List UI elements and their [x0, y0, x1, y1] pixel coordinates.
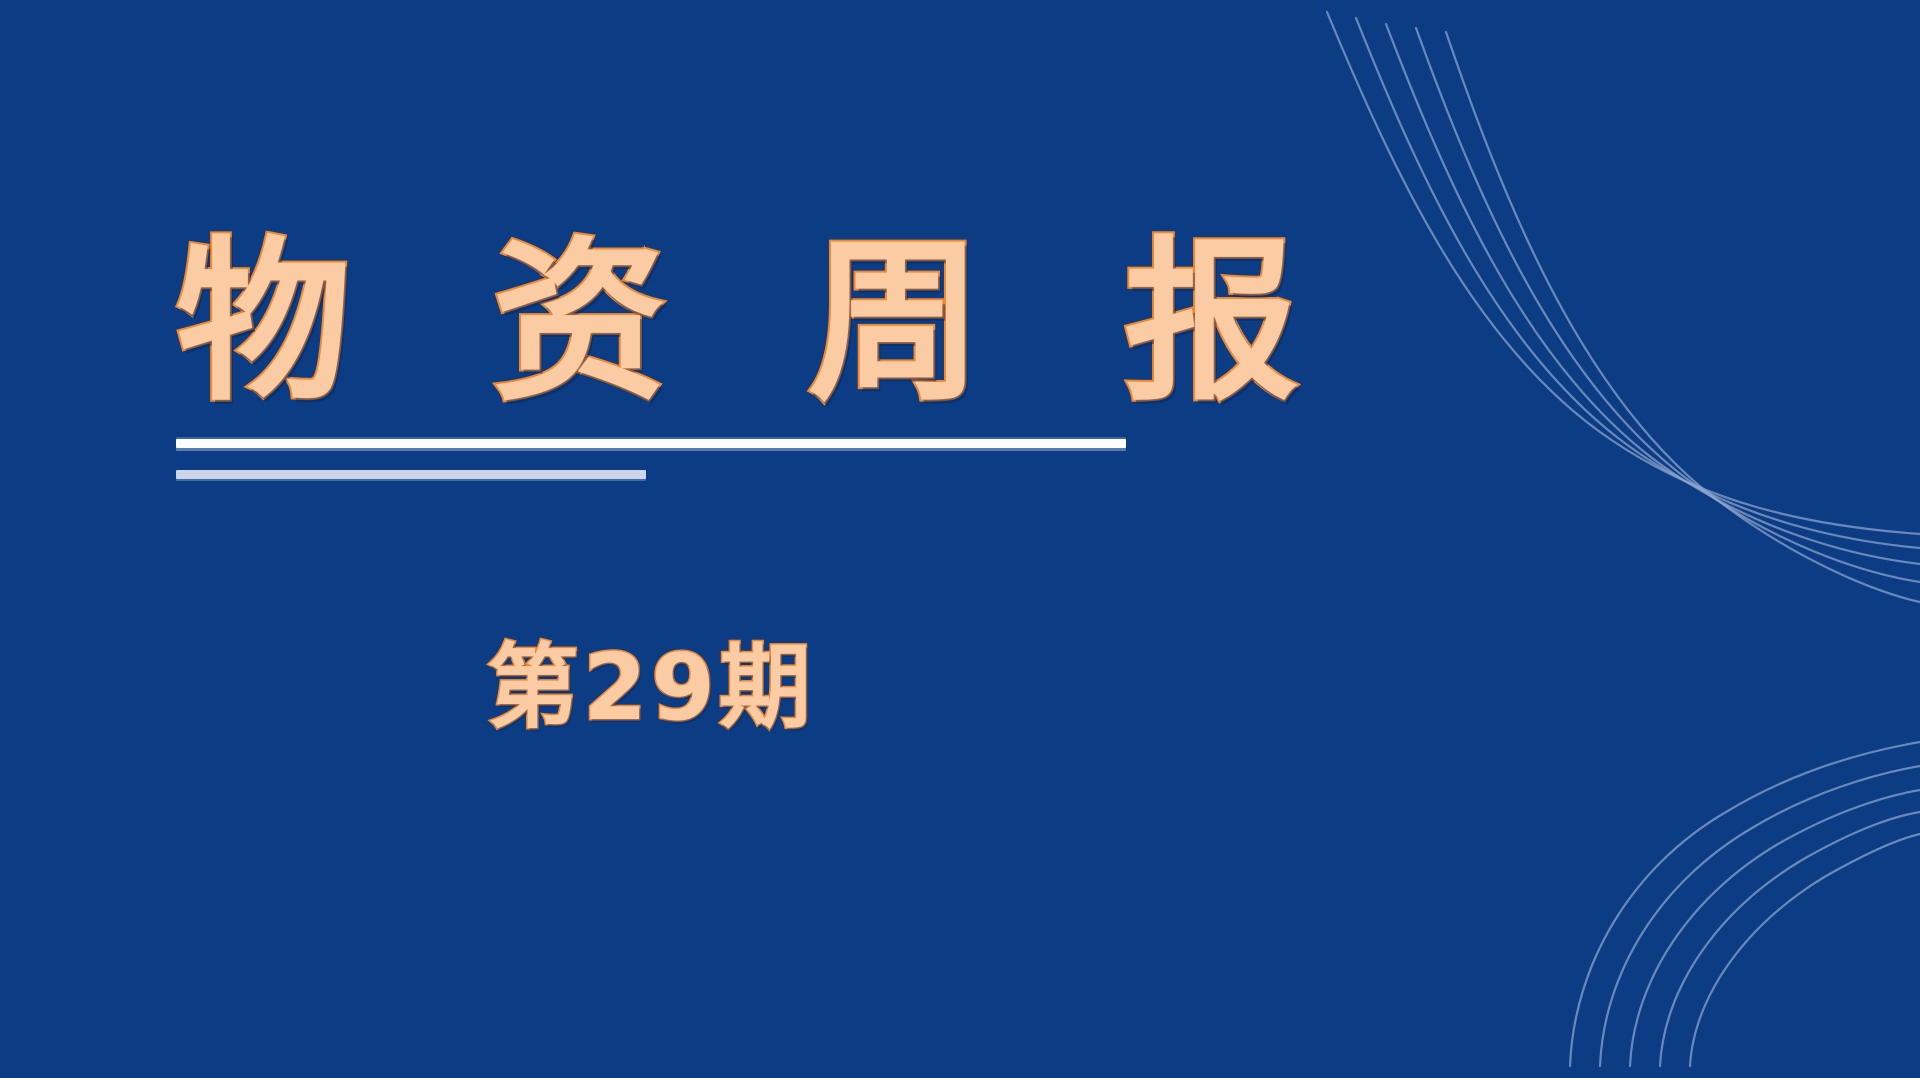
title-rule-primary [176, 439, 1126, 448]
title-rules [176, 439, 1176, 479]
page-title: 物 资 周 报 [176, 236, 1176, 411]
issue-subtitle: 第29期 [176, 640, 1126, 737]
title-block: 物 资 周 报 [176, 236, 1176, 479]
title-rule-secondary [176, 470, 646, 479]
title-slide: 物 资 周 报 第29期 [0, 0, 1920, 1078]
curve-bottom-5 [1690, 834, 1920, 1066]
curve-top-5 [1446, 32, 1920, 602]
curve-bottom-4 [1660, 812, 1920, 1066]
decorative-curves-top-right [0, 0, 1920, 1078]
curve-top-2 [1356, 18, 1920, 548]
curve-top-1 [1327, 12, 1920, 534]
curve-bottom-1 [1570, 742, 1920, 1066]
curve-bottom-3 [1630, 790, 1920, 1066]
curve-bottom-2 [1600, 766, 1920, 1066]
decorative-curves-bottom-right [1570, 742, 1920, 1066]
curve-top-3 [1386, 24, 1920, 564]
curve-top-4 [1416, 28, 1920, 582]
